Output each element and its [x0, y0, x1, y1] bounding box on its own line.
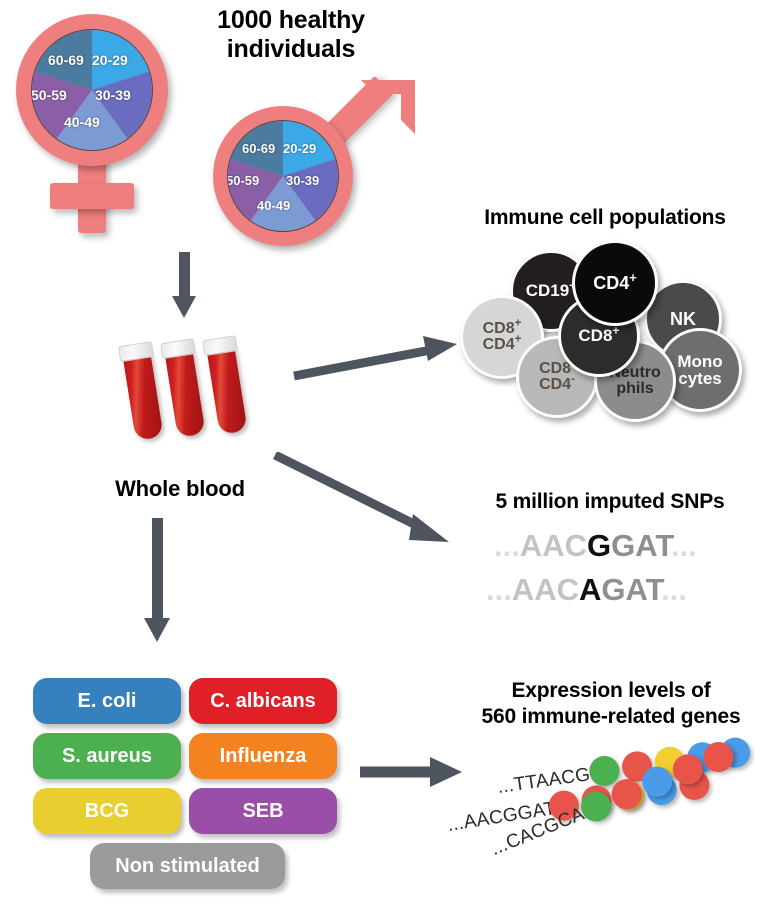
cohort-title-line1: 1000 healthy [176, 6, 406, 35]
female-pie-label-60-69: 60-69 [48, 52, 84, 68]
expression-title: Expression levels of 560 immune-related … [455, 678, 767, 730]
male-pie-label-30-39: 30-39 [286, 173, 319, 188]
immune-cell-nk-text: NK [670, 310, 696, 328]
arrow-blood-to-snps [272, 452, 462, 557]
arrow-cohort-to-blood-shaft [179, 252, 190, 300]
blood-tube-2-body [165, 348, 206, 437]
immune-cell-neutrophils-line2: phils [616, 381, 653, 397]
female-pie-label-50-59: 50-59 [31, 87, 67, 103]
snp-allele-2-prefix-far: ... [486, 572, 512, 607]
snp-allele-1: ...AACGGAT... [494, 528, 697, 564]
immune-cell-cd8-text: CD8+ [578, 327, 619, 344]
snp-allele-1-prefix-far: ... [494, 528, 520, 563]
blood-tubes [115, 340, 255, 455]
arrow-cohort-to-blood-head [172, 296, 196, 318]
snp-allele-2-variant: A [579, 572, 601, 607]
cohort-title-line2: individuals [176, 35, 406, 64]
immune-cell-monocytes-line1: Mono [677, 353, 722, 370]
immune-cell-cd4: CD4+ [572, 240, 658, 326]
male-pie-label-20-29: 20-29 [283, 141, 316, 156]
female-symbol: 20-29 30-39 40-49 50-59 60-69 [10, 8, 190, 238]
snp-allele-2-prefix: AAC [512, 572, 579, 607]
expression-title-line2: 560 immune-related genes [455, 704, 767, 730]
snp-allele-2: ...AACAGAT... [486, 572, 687, 608]
figure-canvas: 1000 healthy individuals 20-29 30-39 40-… [0, 0, 771, 922]
snps-sequences: ...AACGGAT... ...AACAGAT... [480, 528, 760, 618]
female-pie-label-30-39: 30-39 [95, 87, 131, 103]
male-symbol: 20-29 30-39 40-49 50-59 60-69 [205, 78, 420, 243]
immune-cell-cd19-text: CD19+ [526, 282, 577, 299]
male-age-pie: 20-29 30-39 40-49 50-59 60-69 [227, 120, 339, 232]
arrow-blood-to-immune-svg [292, 330, 462, 390]
arrow-blood-to-stimuli-shaft [152, 518, 163, 623]
female-pie-label-20-29: 20-29 [92, 52, 128, 68]
immune-title: Immune cell populations [450, 206, 760, 230]
stimulus-bcg[interactable]: BCG [33, 788, 181, 834]
whole-blood-label: Whole blood [80, 476, 280, 502]
stimulus-influenza[interactable]: Influenza [189, 733, 337, 779]
blood-tube-3-body [207, 345, 248, 434]
female-stem-cross [50, 183, 134, 209]
stimulus-s-aureus[interactable]: S. aureus [33, 733, 181, 779]
male-pie-label-40-49: 40-49 [257, 198, 290, 213]
stimulus-e-coli[interactable]: E. coli [33, 678, 181, 724]
immune-cell-cd4-text: CD4+ [593, 274, 637, 292]
immune-cell-cd8neg-cd4neg-line2: CD4- [539, 377, 575, 393]
blood-tube-1-body [123, 351, 164, 440]
arrow-blood-to-stimuli-head [144, 618, 170, 642]
immune-cell-monocytes-line2: cytes [678, 370, 721, 387]
stimulus-c-albicans[interactable]: C. albicans [189, 678, 337, 724]
male-arrow-head [357, 78, 417, 138]
female-pie-label-40-49: 40-49 [64, 114, 100, 130]
immune-cell-cd8pos-cd4pos-line2: CD4+ [483, 337, 522, 353]
expression-strands: ...TTAACGG ...AACGGAT ...CACGCAA [440, 735, 771, 920]
male-pie-label-50-59: 50-59 [227, 173, 259, 188]
snp-allele-1-suffix-far: ... [671, 528, 697, 563]
male-pie-label-60-69: 60-69 [242, 141, 275, 156]
snp-allele-1-variant: G [587, 528, 611, 563]
stimulus-seb[interactable]: SEB [189, 788, 337, 834]
arrow-blood-to-immune [292, 330, 462, 390]
snp-allele-1-prefix: AAC [520, 528, 587, 563]
snp-allele-1-suffix: GAT [611, 528, 671, 563]
female-age-pie: 20-29 30-39 40-49 50-59 60-69 [31, 29, 153, 151]
snp-allele-2-suffix: GAT [601, 572, 661, 607]
arrow-blood-to-snps-svg [272, 452, 462, 557]
immune-cell-cluster: CD19+ CD4+ NK CD8+ CD4+ CD8+ [460, 240, 760, 420]
snps-title: 5 million imputed SNPs [460, 490, 760, 514]
stimuli-panel: E. coli C. albicans S. aureus Influenza … [33, 678, 333, 898]
snp-allele-2-suffix-far: ... [661, 572, 687, 607]
stimulus-non-stimulated[interactable]: Non stimulated [90, 843, 285, 889]
expression-title-line1: Expression levels of [455, 678, 767, 704]
cohort-title: 1000 healthy individuals [176, 6, 406, 64]
male-arrow-head-svg [357, 78, 417, 138]
